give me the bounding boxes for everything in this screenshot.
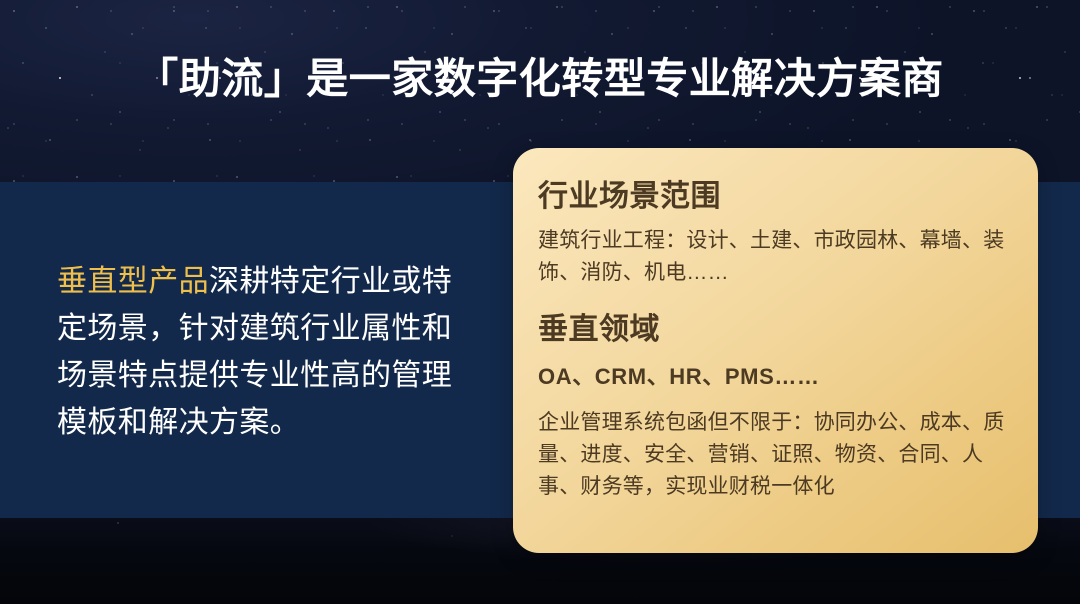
card-heading-industry-scope: 行业场景范围 [538, 178, 1018, 216]
left-description-paragraph: 垂直型产品深耕特定行业或特定场景，针对建筑行业属性和场景特点提供专业性高的管理模… [57, 258, 457, 446]
card-body-vertical-domain: 企业管理系统包函但不限于：协同办公、成本、质量、进度、安全、营销、证照、物资、合… [538, 407, 1018, 503]
slide-canvas: 「助流」是一家数字化转型专业解决方案商 垂直型产品深耕特定行业或特定场景，针对建… [0, 0, 1080, 604]
industry-scope-card: 行业场景范围 建筑行业工程：设计、土建、市政园林、幕墙、装饰、消防、机电…… 垂… [513, 148, 1038, 553]
slide-title: 「助流」是一家数字化转型专业解决方案商 [0, 53, 1080, 105]
card-heading-vertical-domain: 垂直领域 [538, 311, 1018, 349]
card-keywords-vertical-domain: OA、CRM、HR、PMS…… [538, 362, 1018, 392]
highlighted-keyword: 垂直型产品 [57, 265, 209, 298]
card-content: 行业场景范围 建筑行业工程：设计、土建、市政园林、幕墙、装饰、消防、机电…… 垂… [538, 178, 1018, 503]
card-body-industry-scope: 建筑行业工程：设计、土建、市政园林、幕墙、装饰、消防、机电…… [538, 225, 1018, 289]
